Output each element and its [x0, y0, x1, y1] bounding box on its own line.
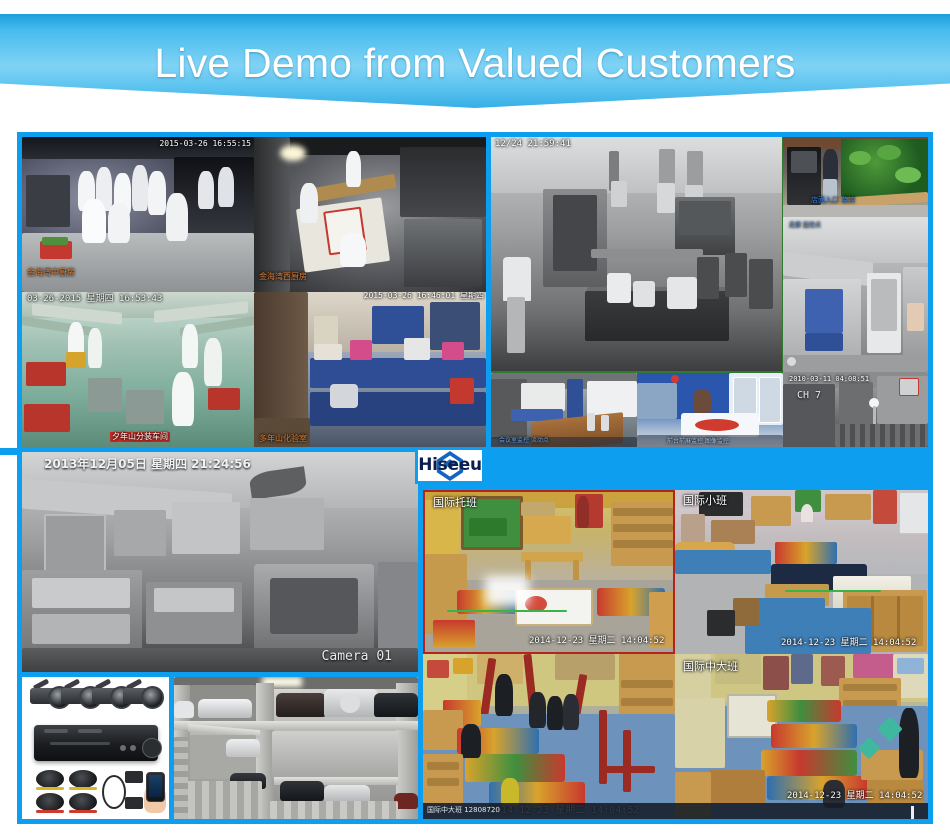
parking-garage-scene: [174, 677, 418, 819]
cell-label: 国际托班: [433, 498, 477, 508]
cell-timestamp: 2014-12-23 星期二 14:04:52: [529, 637, 664, 646]
cell-timestamp: 2015-03-26 16:55:15: [159, 139, 251, 148]
power-adapter-icon: [125, 771, 143, 783]
panel-home-office[interactable]: 12/24 21:59:41 店面入口 监控: [491, 137, 928, 447]
panel-warehouse-night[interactable]: 2013年12月05日 星期四 21:24:56 Camera 01: [22, 452, 418, 672]
smartphone-app-icon: [146, 772, 165, 802]
cell-label: 金海湾中厨房: [27, 268, 75, 278]
power-adapter-icon: [125, 797, 143, 809]
cell-nursery-small-class[interactable]: 国际小班 2014-12-23 星期二 14:04:52: [675, 490, 928, 654]
cell-cctv-dvr-kit-photo[interactable]: [22, 677, 169, 819]
panel-parking-garage[interactable]: [174, 677, 418, 819]
camera-name-tag: Camera 01: [322, 649, 392, 664]
page-title: Live Demo from Valued Customers: [0, 40, 950, 86]
pause-icon[interactable]: [911, 806, 920, 816]
cell-label: 多年山化验室: [259, 434, 307, 444]
cell-timestamp: 2015-03-26 16:46:01 星期四: [364, 292, 484, 300]
page-header-banner: Live Demo from Valued Customers: [0, 14, 950, 108]
splitter-cable-icon: [102, 775, 126, 809]
video-cable-coil-icon: [69, 793, 97, 811]
living-room-night-scene: [491, 137, 782, 371]
cctv-kit-product-scene: [22, 677, 169, 819]
nursery-small-class-scene: [675, 490, 928, 654]
cell-kitchen-line[interactable]: 2015-03-26 16:55:15 金海湾中厨房: [22, 137, 254, 292]
cell-shop-entrance[interactable]: 店面入口 监控: [783, 137, 928, 217]
cell-corridor-hall[interactable]: 走廊 监控点: [783, 217, 928, 372]
cell-label: 金海湾西厨房: [259, 272, 307, 282]
cell-reception-desk[interactable]: 前台前厤监控 图像监控: [637, 372, 783, 447]
cell-label: 店面入口 监控: [811, 195, 855, 205]
video-cable-coil-icon: [36, 793, 64, 811]
cell-label: 前台前厤监控 图像监控: [667, 437, 729, 447]
nursery-play-room-scene: [423, 654, 675, 819]
panel-restaurant-factory[interactable]: 2015-03-26 16:55:15 金海湾中厨房 金海湾西厨房: [22, 137, 486, 447]
cell-timestamp: 12/24 21:59:41: [495, 140, 571, 149]
cell-timestamp: 2010-03-11 04:08:51: [789, 375, 869, 384]
playback-transport-bar[interactable]: 国际中大班 12808720: [423, 803, 928, 819]
shop-entrance-scene: [783, 137, 928, 217]
corridor-hall-scene: [783, 217, 928, 372]
cell-label: 国际小班: [683, 496, 727, 506]
hiseeu-logo: Hiseeu: [415, 447, 485, 484]
cell-nursery-large-class[interactable]: 国际中大班 2014-12-23 星期二 14:04:52: [675, 654, 928, 819]
dvr-recorder-icon: [34, 725, 158, 761]
video-cable-coil-icon: [69, 770, 97, 788]
video-cable-coil-icon: [36, 770, 64, 788]
cell-channel-label: CH 7: [797, 388, 821, 403]
panel-product-kit[interactable]: [22, 677, 169, 819]
cell-nursery-toddler-room[interactable]: 国际托班 2014-12-23 星期二 14:04:52: [423, 490, 675, 654]
cell-label: 会议室监控 流动点: [499, 436, 549, 446]
kitchen-prep-scene: [254, 137, 486, 292]
cell-label: 走廊 监控点: [789, 221, 821, 231]
cell-stairwell-ch7[interactable]: 2010-03-11 04:08:51 CH 7: [783, 372, 928, 447]
cell-multi-level-parking[interactable]: [174, 677, 418, 819]
cell-timestamp: 03-26-2015 星期四 16:53:43: [27, 295, 162, 304]
night-vision-room-scene: [22, 452, 418, 672]
cell-kitchen-prep[interactable]: 金海湾西厨房: [254, 137, 486, 292]
production-line-scene: [22, 292, 254, 447]
cell-meeting-room[interactable]: 会议室监控 流动点: [491, 372, 637, 447]
cell-label: 国际中大班: [683, 662, 738, 672]
cell-night-vision-room[interactable]: 2013年12月05日 星期四 21:24:56 Camera 01: [22, 452, 418, 672]
cell-timestamp: 2013年12月05日 星期四 21:24:56: [44, 457, 251, 471]
cell-living-room-night[interactable]: 12/24 21:59:41: [491, 137, 783, 372]
laboratory-scene: [254, 292, 486, 447]
cell-laboratory[interactable]: 2015-03-26 16:46:01 星期四 多年山化验室: [254, 292, 486, 447]
nursery-toddler-scene: [425, 492, 673, 652]
panel-kindergarten[interactable]: 国际托班 2014-12-23 星期二 14:04:52: [423, 490, 928, 819]
cell-timestamp: 2014-12-23 星期二 14:04:52: [787, 792, 922, 801]
demo-grid-frame: 2015-03-26 16:55:15 金海湾中厨房 金海湾西厨房: [17, 132, 933, 824]
reception-desk-scene: [637, 373, 783, 447]
hiseeu-wordmark: Hiseeu: [418, 457, 482, 474]
transport-channel-label: 国际中大班 12808720: [427, 806, 500, 815]
cell-label: 夕年山分装车间: [110, 432, 170, 442]
cell-nursery-play-room[interactable]: 2014-12-23 星期二 14:04:52: [423, 654, 675, 819]
cell-timestamp: 2014-12-23 星期二 14:04:52: [781, 639, 916, 648]
cell-production-line[interactable]: 03-26-2015 星期四 16:53:43 夕年山分装车间: [22, 292, 254, 447]
